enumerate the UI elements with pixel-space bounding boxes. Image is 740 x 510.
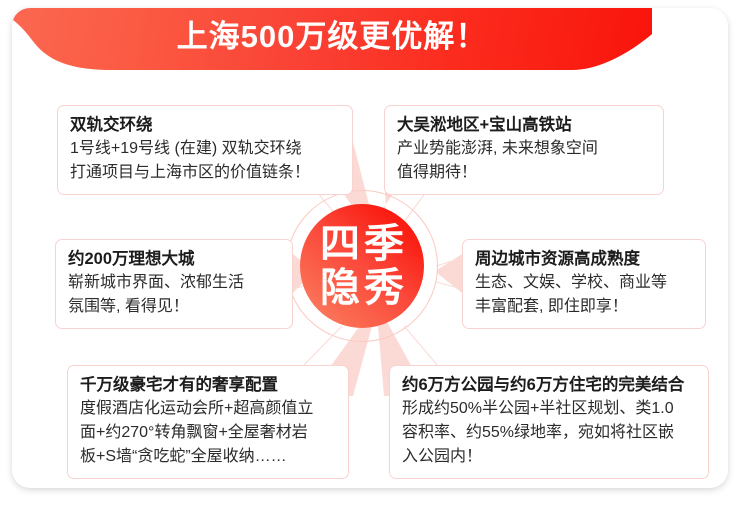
infographic-poster: 上海500万级更优解！ 四 季 隐 秀 双轨交环绕 1号线+19号线 (在建) … [12, 8, 728, 488]
info-card-park-body: 形成约50%半公园+半社区规划、类1.0 容积率、约55%绿地率，宛如将社区嵌 … [402, 397, 697, 469]
info-card-rail: 双轨交环绕 1号线+19号线 (在建) 双轨交环绕 打通项目与上海市区的价值链条… [57, 105, 353, 195]
project-name-char-4: 秀 [362, 266, 406, 310]
info-card-resource: 周边城市资源高成熟度 生态、文娱、学校、商业等 丰富配套, 即住即享！ [462, 239, 706, 329]
page-title: 上海500万级更优解！ [12, 8, 652, 66]
info-card-rail-title: 双轨交环绕 [70, 114, 341, 137]
info-card-resource-title: 周边城市资源高成熟度 [475, 248, 694, 271]
info-card-luxury-title: 千万级豪宅才有的奢享配置 [80, 374, 337, 397]
info-card-district: 大吴淞地区+宝山高铁站 产业势能澎湃, 未来想象空间 值得期待！ [384, 105, 664, 195]
project-name-char-2: 季 [362, 222, 406, 266]
info-card-district-title: 大吴淞地区+宝山高铁站 [397, 114, 652, 137]
info-card-district-body: 产业势能澎湃, 未来想象空间 值得期待！ [397, 137, 652, 185]
guide-line-right [436, 258, 462, 266]
info-card-park: 约6万方公园与约6万方住宅的完美结合 形成约50%半公园+半社区规划、类1.0 … [389, 365, 709, 479]
project-name-badge: 四 季 隐 秀 [300, 204, 424, 328]
info-card-resource-body: 生态、文娱、学校、商业等 丰富配套, 即住即享！ [475, 271, 694, 319]
info-card-rail-body: 1号线+19号线 (在建) 双轨交环绕 打通项目与上海市区的价值链条！ [70, 137, 341, 185]
info-card-city: 约200万理想大城 崭新城市界面、浓郁生活 氛围等, 看得见！ [55, 239, 293, 329]
info-card-luxury: 千万级豪宅才有的奢享配置 度假酒店化运动会所+超高颜值立 面+约270°转角飘窗… [67, 365, 349, 479]
project-name-char-1: 四 [318, 222, 362, 266]
guide-line-right-2 [436, 282, 462, 289]
info-card-luxury-body: 度假酒店化运动会所+超高颜值立 面+约270°转角飘窗+全屋奢材岩 板+S墙“贪… [80, 397, 337, 469]
project-name-char-3: 隐 [318, 266, 362, 310]
info-card-city-title: 约200万理想大城 [68, 248, 281, 271]
info-card-park-title: 约6万方公园与约6万方住宅的完美结合 [402, 374, 697, 397]
info-card-city-body: 崭新城市界面、浓郁生活 氛围等, 看得见！ [68, 271, 281, 319]
spoke-right [437, 254, 462, 293]
